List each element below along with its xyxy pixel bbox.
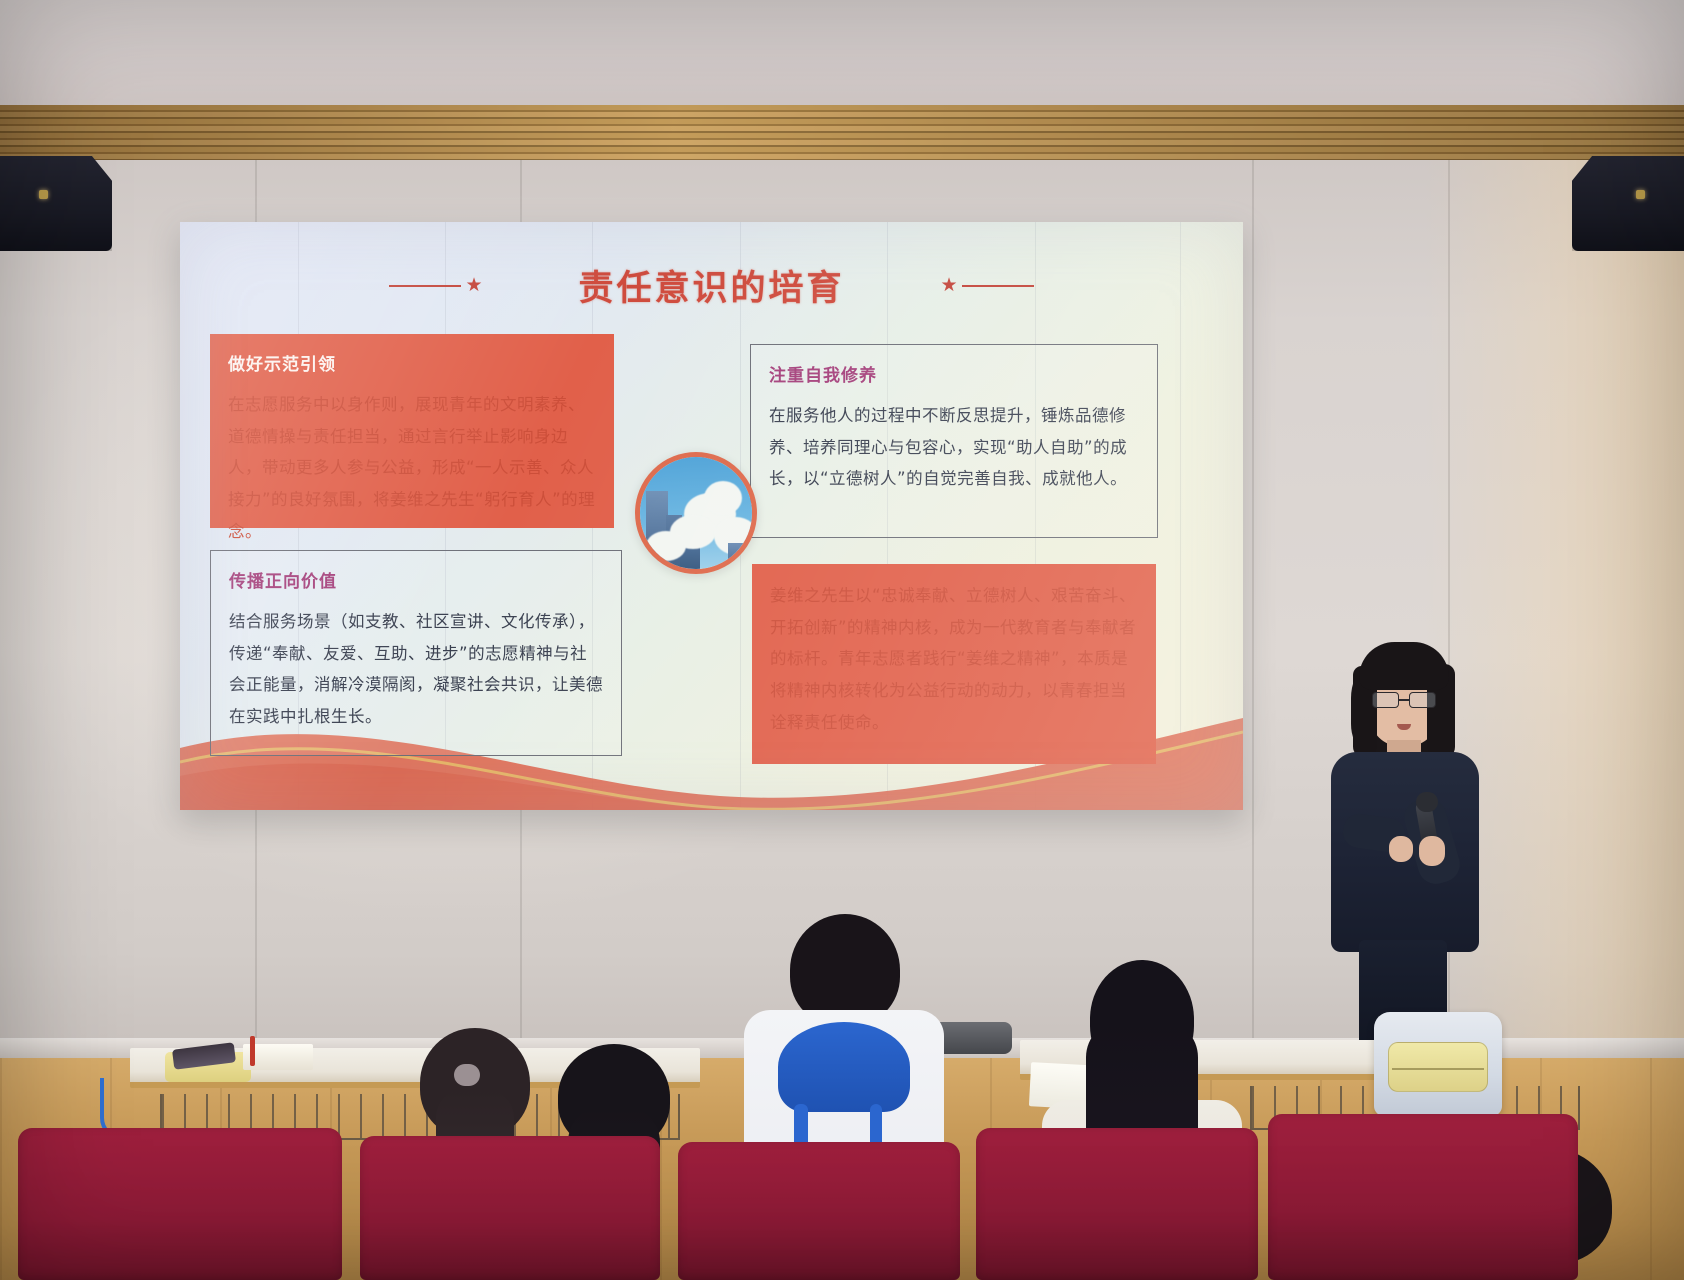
content-box-self-cultivation-body: 在服务他人的过程中不断反思提升，锤炼品德修养、培养同理心与包容心，实现“助人自助… xyxy=(769,400,1139,495)
backpack-on-desk xyxy=(1374,1012,1502,1116)
page-title: 责任意识的培育 xyxy=(578,260,844,311)
wall-speaker-right xyxy=(1572,156,1684,251)
content-box-spread-values: 传播正向价值 结合服务场景（如支教、社区宣讲、文化传承），传递“奉献、友爱、互助… xyxy=(210,550,622,756)
presenter-speaker xyxy=(1315,640,1495,1060)
presenter-hair-front xyxy=(1359,642,1449,690)
star-icon-right: ★ xyxy=(941,276,958,295)
slide-title-row: ★ 责任意识的培育 ★ xyxy=(180,260,1243,311)
projection-screen: ★ 责任意识的培育 ★ 做好示范引领 在志愿服务中以身作则，展现青年的文明素养、… xyxy=(180,222,1243,810)
content-box-demonstration-body: 在志愿服务中以身作则，展现青年的文明素养、道德情操与责任担当，通过言行举止影响身… xyxy=(228,389,596,547)
auditorium-chair xyxy=(976,1128,1258,1280)
content-box-demonstration: 做好示范引领 在志愿服务中以身作则，展现青年的文明素养、道德情操与责任担当，通过… xyxy=(210,334,614,528)
auditorium-chair xyxy=(360,1136,660,1280)
auditorium-chair xyxy=(678,1142,960,1280)
ceiling xyxy=(0,0,1684,108)
title-right-decoration: ★ xyxy=(941,276,1034,295)
microphone-head xyxy=(1416,792,1438,812)
wall-speaker-left xyxy=(0,156,112,251)
city-skyline-clouds-photo xyxy=(635,452,757,574)
wood-slat-ceiling-band xyxy=(0,105,1684,163)
star-icon-left: ★ xyxy=(465,276,482,295)
content-box-jiang-weizhi: 姜维之先生以“忠诚奉献、立德树人、艰苦奋斗、开拓创新”的精神内核，成为一代教育者… xyxy=(752,564,1156,764)
content-box-jiang-weizhi-body: 姜维之先生以“忠诚奉献、立德树人、艰苦奋斗、开拓创新”的精神内核，成为一代教育者… xyxy=(770,580,1138,738)
pen-on-desk xyxy=(250,1036,255,1066)
auditorium-chair xyxy=(18,1128,342,1280)
decoration-line-right xyxy=(962,285,1034,287)
content-box-self-cultivation: 注重自我修养 在服务他人的过程中不断反思提升，锤炼品德修养、培养同理心与包容心，… xyxy=(750,344,1158,538)
auditorium-chair xyxy=(1268,1114,1578,1280)
decoration-line-left xyxy=(389,285,461,287)
content-box-self-cultivation-heading: 注重自我修养 xyxy=(769,361,1139,386)
presenter-right-hand xyxy=(1419,836,1445,866)
content-box-demonstration-heading: 做好示范引领 xyxy=(228,350,596,375)
title-left-decoration: ★ xyxy=(389,276,482,295)
content-box-spread-values-heading: 传播正向价值 xyxy=(229,567,603,592)
content-box-spread-values-body: 结合服务场景（如支教、社区宣讲、文化传承），传递“奉献、友爱、互助、进步”的志愿… xyxy=(229,606,603,733)
classroom-scene: ★ 责任意识的培育 ★ 做好示范引领 在志愿服务中以身作则，展现青年的文明素养、… xyxy=(0,0,1684,1280)
presenter-left-hand xyxy=(1389,836,1413,862)
glasses-icon xyxy=(1371,692,1437,708)
presentation-slide: ★ 责任意识的培育 ★ 做好示范引领 在志愿服务中以身作则，展现青年的文明素养、… xyxy=(180,222,1243,810)
